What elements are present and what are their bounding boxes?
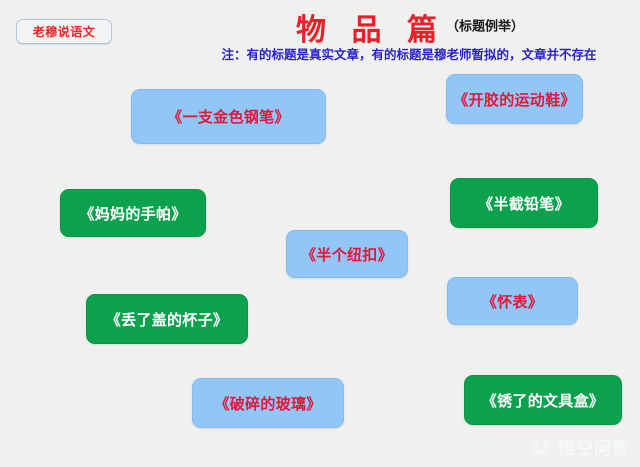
title-card-label: 《怀表》	[482, 291, 543, 312]
title-card[interactable]: 《半个纽扣》	[286, 230, 408, 278]
title-card[interactable]: 《怀表》	[447, 277, 578, 325]
title-card-label: 《妈妈的手帕》	[79, 203, 186, 224]
title-card[interactable]: 《破碎的玻璃》	[192, 378, 344, 428]
page-title: 物 品 篇（标题例举）	[185, 5, 635, 49]
title-card-label: 《丢了盖的杯子》	[106, 309, 228, 330]
title-card[interactable]: 《半截铅笔》	[450, 178, 598, 228]
brand-badge-label: 老穆说语文	[33, 23, 96, 40]
brand-badge: 老穆说语文	[16, 19, 112, 44]
wukong-logo-icon	[529, 439, 553, 455]
note-text: 注：有的标题是真实文章，有的标题是穆老师暂拟的，文章并不存在	[180, 44, 638, 63]
title-card[interactable]: 《锈了的文具盒》	[464, 375, 622, 425]
title-card-label: 《一支金色钢笔》	[167, 106, 289, 127]
watermark: 悟空问答	[529, 434, 630, 459]
title-card-label: 《开胶的运动鞋》	[453, 89, 575, 110]
poster-canvas: 老穆说语文 物 品 篇（标题例举） 注：有的标题是真实文章，有的标题是穆老师暂拟…	[0, 0, 640, 467]
title-card-label: 《破碎的玻璃》	[214, 393, 321, 414]
title-card-label: 《半截铅笔》	[478, 193, 570, 214]
title-card-label: 《半个纽扣》	[301, 244, 393, 265]
title-card[interactable]: 《丢了盖的杯子》	[86, 294, 248, 344]
title-card[interactable]: 《开胶的运动鞋》	[446, 74, 583, 124]
page-title-sub: （标题例举）	[446, 19, 524, 34]
page-title-main: 物 品 篇	[296, 14, 446, 47]
title-card-label: 《锈了的文具盒》	[482, 390, 604, 411]
watermark-label: 悟空问答	[558, 434, 630, 459]
title-card[interactable]: 《一支金色钢笔》	[131, 89, 326, 144]
title-card[interactable]: 《妈妈的手帕》	[60, 189, 206, 237]
